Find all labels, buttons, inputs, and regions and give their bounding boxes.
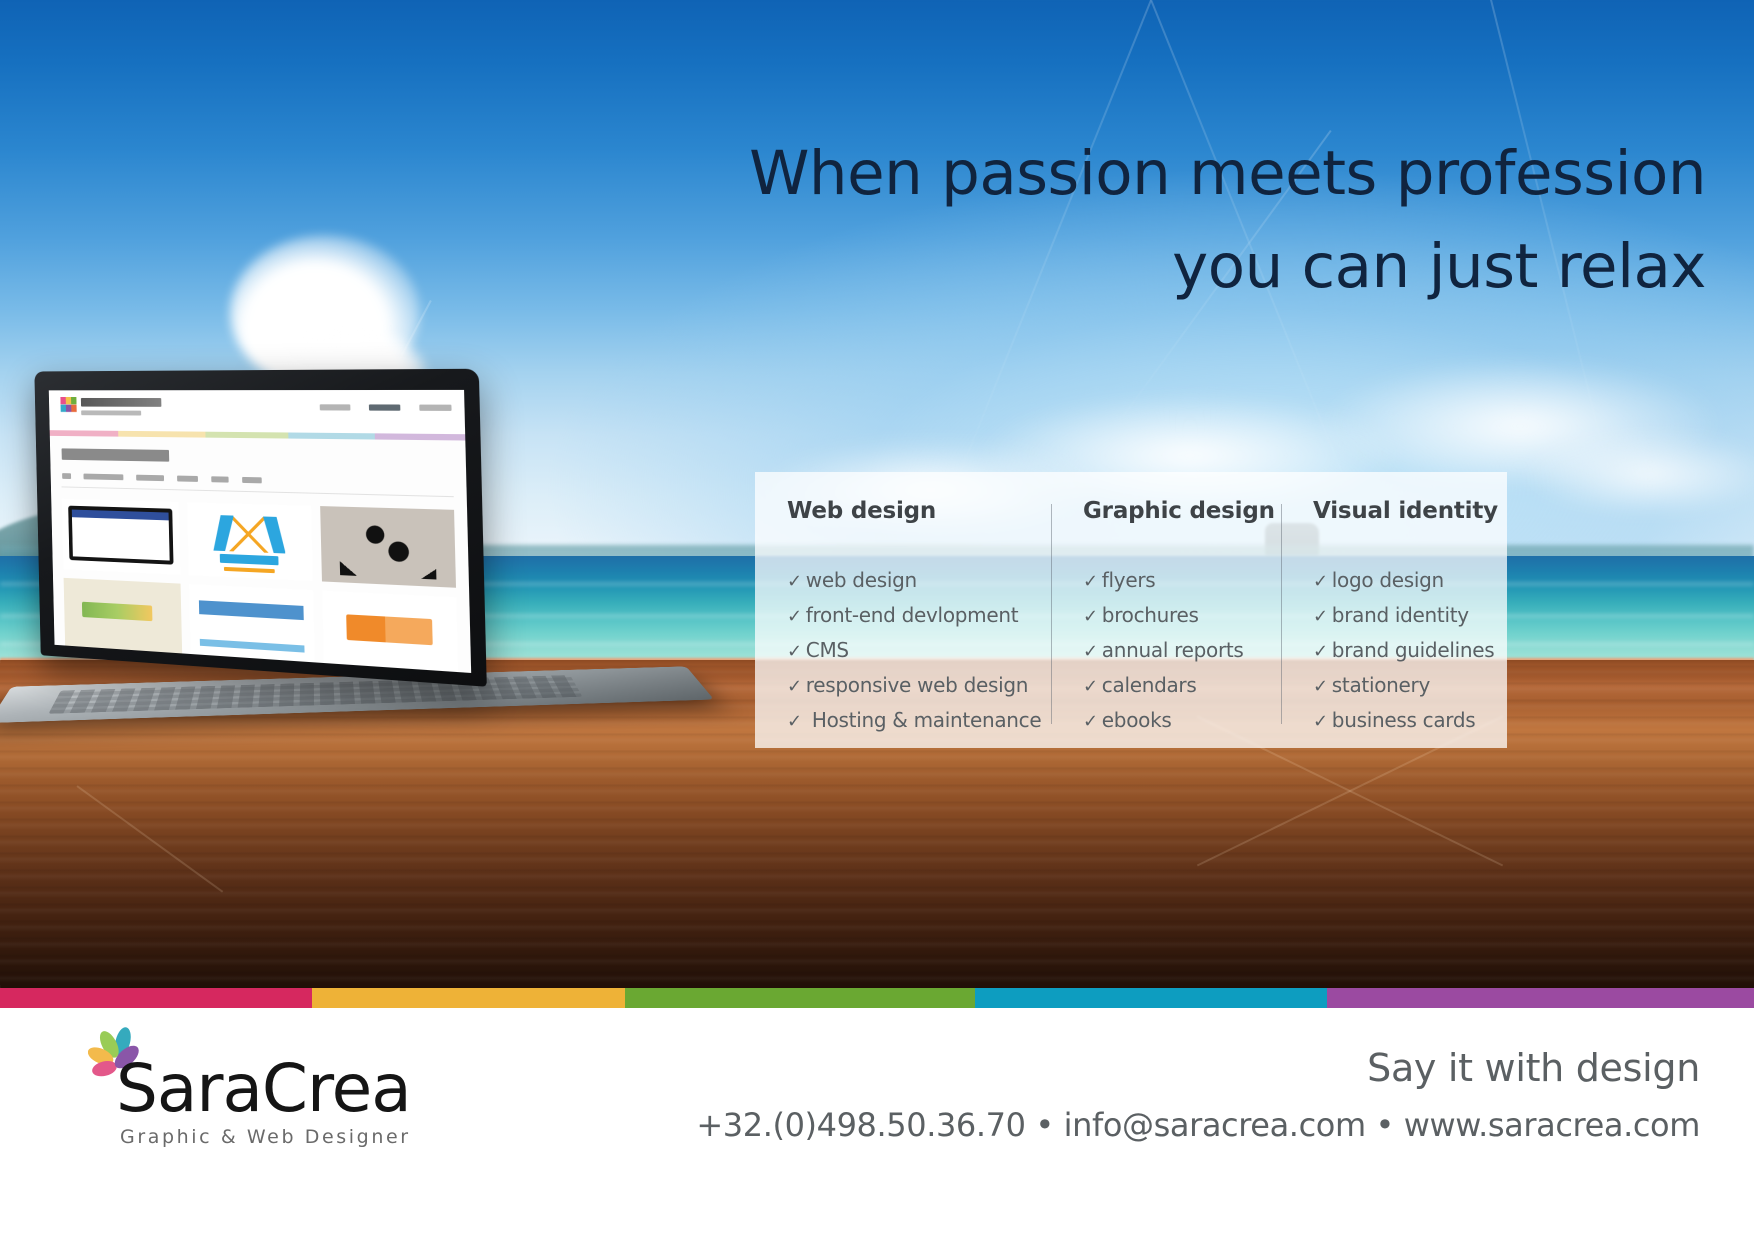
- service-item-label: CMS: [806, 638, 849, 662]
- service-item-label: stationery: [1332, 673, 1430, 697]
- site-divider: [62, 486, 454, 497]
- check-icon: ✓: [1083, 711, 1098, 732]
- site-nav-item[interactable]: [320, 404, 351, 410]
- service-item: ✓annual reports: [1083, 633, 1281, 668]
- site-nav-item[interactable]: [419, 405, 451, 411]
- filter-chip[interactable]: [83, 474, 123, 481]
- service-item: ✓brochures: [1083, 598, 1281, 633]
- m-logo-icon: [213, 515, 286, 554]
- services-column-web-design: Web design ✓web design ✓front-end devlop…: [755, 498, 1051, 730]
- check-icon: ✓: [787, 711, 802, 732]
- service-item-label: brand guidelines: [1332, 638, 1495, 662]
- footer: SaraCrea Graphic & Web Designer Say it w…: [0, 1008, 1754, 1241]
- service-item: ✓web design: [787, 563, 1051, 598]
- service-item-label: Hosting & maintenance: [806, 708, 1042, 732]
- filter-chip[interactable]: [136, 475, 164, 481]
- stripe-segment-teal: [975, 988, 1327, 1008]
- laptop-keyboard: [48, 675, 582, 714]
- service-item-label: calendars: [1102, 673, 1197, 697]
- laptop-mockup: [8, 370, 718, 730]
- stripe-segment-purple: [1327, 988, 1754, 1008]
- service-item: ✓business cards: [1313, 703, 1507, 738]
- service-item-label: ebooks: [1102, 708, 1172, 732]
- services-column-visual-identity: Visual identity ✓logo design ✓brand iden…: [1281, 498, 1507, 730]
- services-panel: Web design ✓web design ✓front-end devlop…: [755, 472, 1507, 748]
- service-item: ✓brand identity: [1313, 598, 1507, 633]
- poster-canvas: When passion meets profession you can ju…: [0, 0, 1754, 1241]
- site-logo-icon: [60, 397, 76, 412]
- brand-name: SaraCrea: [116, 1050, 411, 1127]
- check-icon: ✓: [787, 676, 802, 697]
- column-title: Web design: [787, 498, 1051, 524]
- check-icon: ✓: [1313, 676, 1328, 697]
- portfolio-thumbnail[interactable]: [189, 584, 316, 665]
- service-item: ✓responsive web design: [787, 668, 1051, 703]
- check-icon: ✓: [1313, 571, 1328, 592]
- service-item: ✓flyers: [1083, 563, 1281, 598]
- column-title: Graphic design: [1083, 498, 1281, 524]
- portfolio-thumbnail[interactable]: [62, 499, 180, 575]
- check-icon: ✓: [1313, 606, 1328, 627]
- footer-tagline: Say it with design: [1367, 1046, 1700, 1090]
- check-icon: ✓: [1083, 676, 1098, 697]
- site-logo-wordmark: [81, 398, 162, 407]
- check-icon: ✓: [1083, 571, 1098, 592]
- m-logo-wordmark: [220, 554, 279, 565]
- site-logo-subtitle: [81, 410, 141, 415]
- filter-chip[interactable]: [62, 473, 71, 479]
- check-icon: ✓: [1313, 641, 1328, 662]
- stripe-segment-yellow: [312, 988, 625, 1008]
- service-item: ✓CMS: [787, 633, 1051, 668]
- site-nav-item[interactable]: [369, 404, 401, 410]
- service-item-label: business cards: [1332, 708, 1476, 732]
- filter-chip[interactable]: [211, 476, 228, 482]
- service-item: ✓front-end devlopment: [787, 598, 1051, 633]
- service-item: ✓logo design: [1313, 563, 1507, 598]
- check-icon: ✓: [1313, 711, 1328, 732]
- laptop-screen: [49, 390, 471, 673]
- hero-beach-photo: When passion meets profession you can ju…: [0, 0, 1754, 988]
- site-page-title: [62, 448, 170, 461]
- headline-line-1: When passion meets profession: [749, 138, 1706, 209]
- headline-line-2: you can just relax: [706, 221, 1706, 314]
- footer-contact-line[interactable]: +32.(0)498.50.36.70 • info@saracrea.com …: [696, 1106, 1700, 1144]
- service-item-label: responsive web design: [806, 673, 1028, 697]
- portfolio-grid: [62, 499, 458, 673]
- service-item: ✓stationery: [1313, 668, 1507, 703]
- service-item: ✓ebooks: [1083, 703, 1281, 738]
- column-title: Visual identity: [1313, 498, 1507, 524]
- m-logo-tagline: [224, 567, 275, 573]
- stripe-segment-green: [625, 988, 975, 1008]
- service-item-label: flyers: [1102, 568, 1156, 592]
- check-icon: ✓: [1083, 641, 1098, 662]
- portfolio-thumbnail[interactable]: [320, 506, 456, 588]
- headline: When passion meets profession you can ju…: [706, 128, 1706, 313]
- filter-chip[interactable]: [242, 477, 262, 483]
- check-icon: ✓: [787, 641, 802, 662]
- laptop-lid: [34, 369, 486, 687]
- service-item: ✓ Hosting & maintenance: [787, 703, 1051, 738]
- site-nav[interactable]: [320, 404, 452, 411]
- filter-chip[interactable]: [177, 476, 198, 482]
- brand-subtitle: Graphic & Web Designer: [120, 1126, 411, 1148]
- portfolio-thumbnail[interactable]: [323, 591, 459, 673]
- stripe-segment-pink: [0, 988, 312, 1008]
- service-item-label: logo design: [1332, 568, 1444, 592]
- website-header: [49, 390, 465, 434]
- service-item-label: brand identity: [1332, 603, 1469, 627]
- check-icon: ✓: [787, 571, 802, 592]
- portfolio-thumbnail[interactable]: [64, 578, 182, 657]
- service-item-label: brochures: [1102, 603, 1199, 627]
- service-item-label: annual reports: [1102, 638, 1244, 662]
- portfolio-thumbnail[interactable]: [187, 502, 313, 581]
- check-icon: ✓: [787, 606, 802, 627]
- service-item-label: web design: [806, 568, 917, 592]
- service-item-label: front-end devlopment: [806, 603, 1018, 627]
- site-filter-bar[interactable]: [62, 473, 466, 488]
- check-icon: ✓: [1083, 606, 1098, 627]
- brand-color-stripe: [0, 988, 1754, 1008]
- service-item: ✓calendars: [1083, 668, 1281, 703]
- services-column-graphic-design: Graphic design ✓flyers ✓brochures ✓annua…: [1051, 498, 1281, 730]
- service-item: ✓brand guidelines: [1313, 633, 1507, 668]
